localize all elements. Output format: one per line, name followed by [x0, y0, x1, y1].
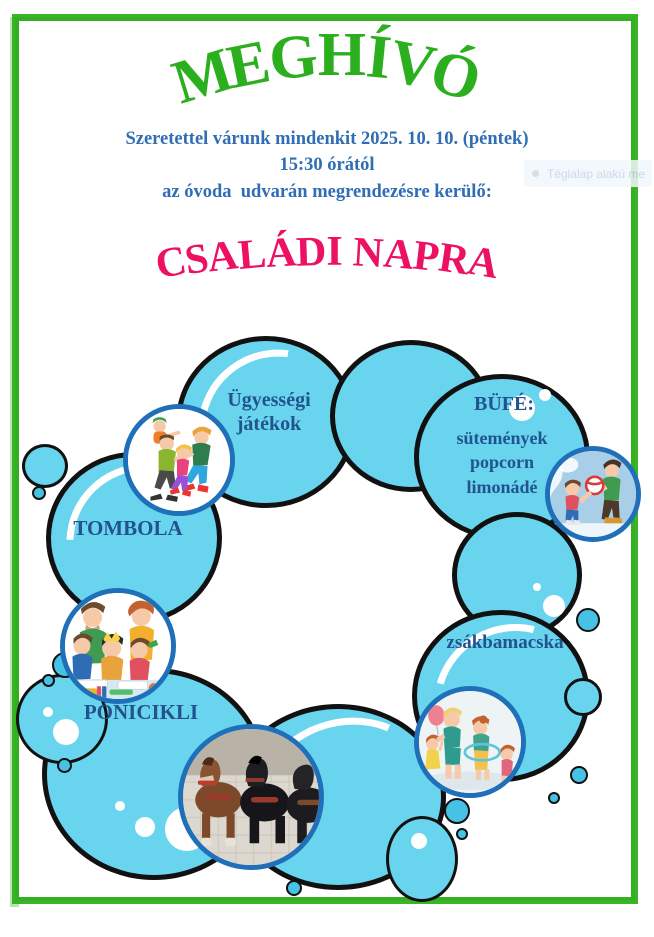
label-ponicikli: PÓNICIKLI — [58, 700, 224, 725]
body-line-1: Szeretettel várunk mindenkit 2025. 10. 1… — [0, 126, 654, 152]
tooltip-overlay: Téglalap alakú me — [524, 160, 652, 187]
bubble-satellite-bottom-d — [286, 880, 302, 896]
bubble-satellite-bottom-a — [386, 816, 458, 902]
bubble-satellite-bottom-b — [444, 798, 470, 824]
label-zsakbamacska: zsákbamacska — [420, 632, 590, 655]
subtitle-csaladi-napra: CSALÁDI NAPRA — [154, 228, 501, 276]
bubble-satellite-leftedge-b — [32, 486, 46, 500]
bullet-icon — [532, 170, 539, 177]
bubble-satellite-bottom-c — [456, 828, 468, 840]
invitation-poster: MEGHÍVÓ Szeretettel várunk mindenkit 202… — [0, 0, 654, 937]
crafting-family-photo — [60, 588, 176, 704]
bubble-satellite-left-d — [57, 758, 72, 773]
label-tombola: TOMBOLA — [48, 516, 208, 541]
bubble-satellite-right-c — [570, 766, 588, 784]
bubble-ring-artwork: Ügyességi játékok BÜFÉ: sütemények popco… — [0, 300, 654, 920]
ball-play-photo — [545, 446, 641, 542]
running-family-photo — [123, 404, 235, 516]
bubble-satellite-right-d — [548, 792, 560, 804]
pony-ride-photo — [178, 724, 324, 870]
page-subtitle: CSALÁDI NAPRA — [0, 228, 654, 288]
hula-hoop-family-photo — [414, 686, 526, 798]
page-title: MEGHÍVÓ — [0, 20, 654, 110]
bubble-satellite-left-c — [42, 674, 55, 687]
tooltip-label: Téglalap alakú me — [547, 167, 645, 181]
bubble-satellite-right-a — [576, 608, 600, 632]
title-meghivo: MEGHÍVÓ — [167, 20, 488, 91]
bubble-satellite-right-b — [564, 678, 602, 716]
bubble-satellite-leftedge — [22, 444, 68, 488]
label-bufe-title: BÜFÉ: — [430, 392, 578, 416]
